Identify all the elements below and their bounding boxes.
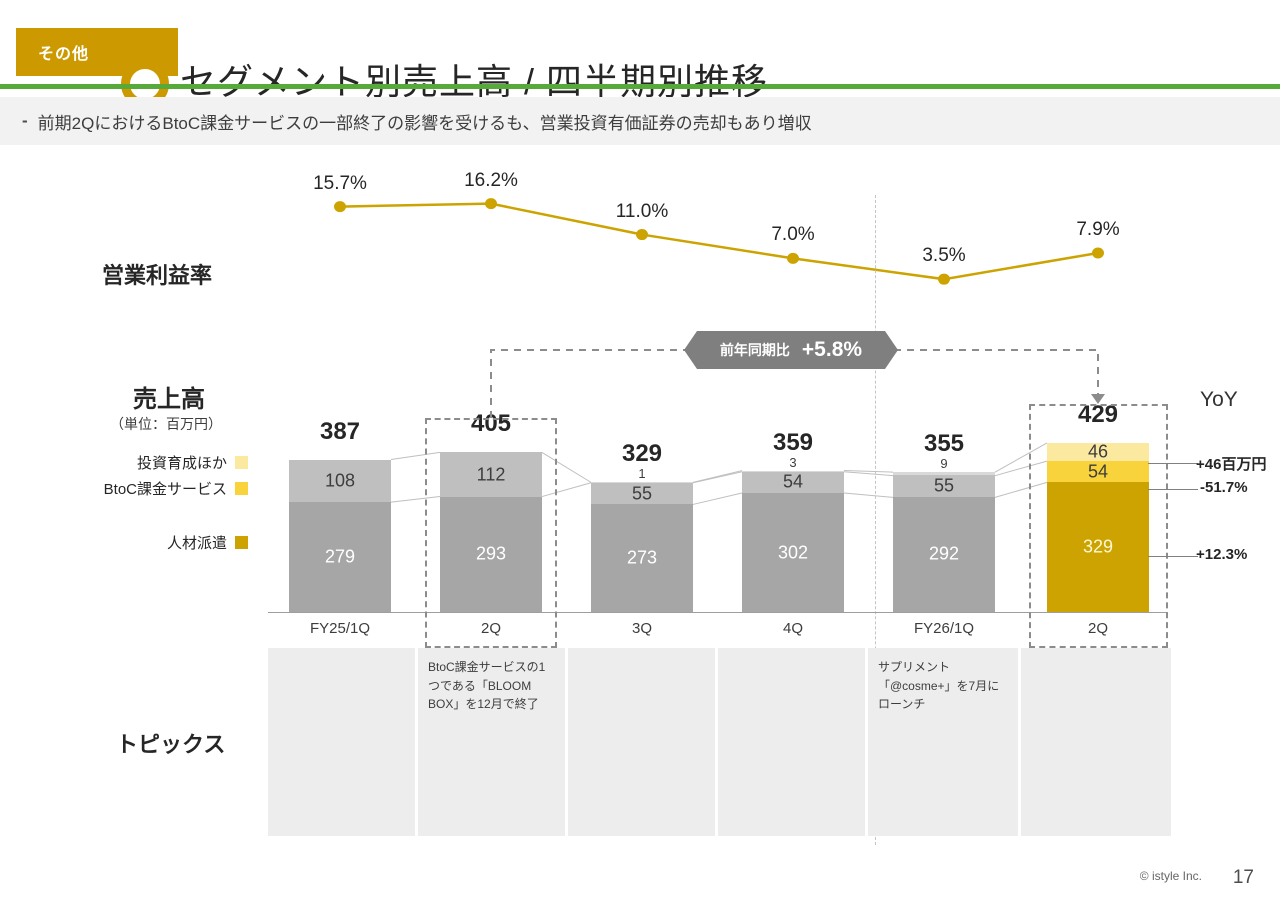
bar-segment: 54 (742, 472, 844, 493)
topic-text-fy25-2q: BtoC課金サービスの1つである「BLOOM BOX」を12月で終了 (428, 658, 557, 714)
line-point-label: 11.0% (582, 201, 702, 223)
yoy-leader-investment (1148, 463, 1198, 464)
bar-segment: 55 (893, 475, 995, 497)
x-axis-tick-label: FY26/1Q (893, 620, 995, 637)
line-point-label: 15.7% (280, 173, 400, 195)
line-point-label: 16.2% (431, 170, 551, 192)
bar-segment: 292 (893, 497, 995, 612)
bar-group: 354302 (742, 471, 844, 612)
bar-segment-value: 9 (893, 456, 995, 471)
yoy-callout-badge: 前年同期比 +5.8% (684, 331, 898, 369)
bar-segment-value: 55 (893, 476, 995, 497)
bar-group: 955292 (893, 472, 995, 612)
bar-segment: 279 (289, 502, 391, 612)
topic-cell-fy25-4q (718, 648, 865, 836)
highlight-box-prior-2q (425, 418, 557, 648)
bar-segment-value: 3 (742, 455, 844, 470)
bar-total-label: 387 (289, 418, 391, 446)
bar-total-label: 329 (591, 440, 693, 468)
topic-cell-fy25-1q (268, 648, 415, 836)
bar-segment-value: 108 (289, 470, 391, 491)
bar-group: 108279 (289, 460, 391, 612)
bar-segment: 273 (591, 504, 693, 612)
bar-total-label: 359 (742, 429, 844, 457)
x-axis-tick-label: 3Q (591, 620, 693, 637)
x-axis-tick-label: 4Q (742, 620, 844, 637)
topic-text-fy26-1q: サプリメント「@cosme+」を7月にローンチ (878, 658, 1010, 714)
yoy-leader-btoc (1148, 489, 1198, 490)
bar-segment-value: 279 (289, 547, 391, 568)
bar-segment-value: 54 (742, 472, 844, 493)
line-point-label: 3.5% (884, 245, 1004, 267)
bar-segment: 108 (289, 460, 391, 503)
bar-segment-value: 1 (591, 466, 693, 481)
bar-segment-value: 273 (591, 548, 693, 569)
line-point-label: 7.0% (733, 224, 853, 246)
yoy-leader-staffing (1148, 556, 1198, 557)
yoy-callout-value: +5.8% (802, 338, 862, 362)
topics-panel: BtoC課金サービスの1つである「BLOOM BOX」を12月で終了 サプリメン… (268, 648, 1171, 836)
topic-cell-fy26-2q (1021, 648, 1171, 836)
line-point-label: 7.9% (1038, 219, 1158, 241)
yoy-value-btoc: -51.7% (1200, 479, 1248, 496)
yoy-value-staffing: +12.3% (1196, 546, 1247, 563)
yoy-value-investment: +46百万円 (1196, 453, 1266, 474)
yoy-callout-label: 前年同期比 (720, 340, 790, 360)
bar-segment-value: 302 (742, 542, 844, 563)
bar-total-label: 355 (893, 430, 995, 458)
x-axis-tick-label: FY25/1Q (289, 620, 391, 637)
topic-cell-fy26-1q: サプリメント「@cosme+」を7月にローンチ (868, 648, 1018, 836)
footer-page-number: 17 (1233, 867, 1254, 889)
bar-segment-value: 55 (591, 483, 693, 504)
topic-cell-fy25-3q (568, 648, 715, 836)
topic-cell-fy25-2q: BtoC課金サービスの1つである「BLOOM BOX」を12月で終了 (418, 648, 565, 836)
bar-segment: 302 (742, 493, 844, 612)
bar-segment-value: 292 (893, 544, 995, 565)
bar-group: 155273 (591, 482, 693, 612)
bar-segment: 55 (591, 483, 693, 505)
highlight-box-current-2q (1029, 404, 1168, 648)
footer-copyright: © istyle Inc. (1140, 869, 1202, 883)
